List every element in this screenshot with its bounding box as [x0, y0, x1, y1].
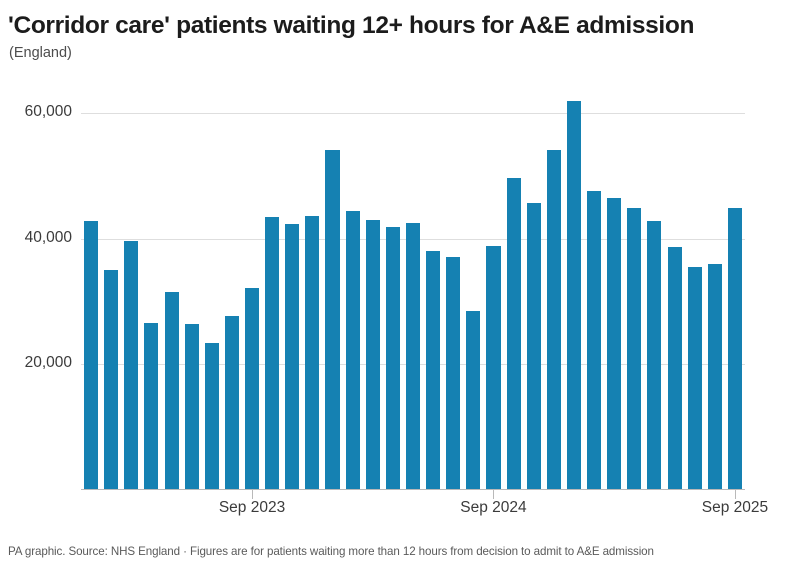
bar — [144, 323, 158, 489]
x-axis-tick-mark — [735, 490, 736, 499]
y-axis-tick-label: 40,000 — [6, 230, 72, 246]
bar — [668, 247, 682, 490]
bar-series — [81, 104, 745, 490]
bar — [486, 246, 500, 489]
bar — [426, 251, 440, 489]
bar — [406, 223, 420, 489]
bar — [647, 221, 661, 490]
x-axis-tick-label: Sep 2024 — [460, 500, 526, 516]
bar — [104, 270, 118, 490]
plot-area: 20,00040,00060,000 Sep 2023Sep 2024Sep 2… — [0, 0, 794, 575]
bar — [466, 311, 480, 489]
source-note: PA graphic. Source: NHS England · Figure… — [8, 545, 654, 558]
bar — [688, 267, 702, 490]
bar — [305, 216, 319, 490]
bar — [325, 150, 339, 489]
bar — [225, 316, 239, 490]
bar — [547, 150, 561, 489]
x-axis-tick-mark — [493, 490, 494, 499]
bar — [265, 217, 279, 489]
y-axis-tick-label: 60,000 — [6, 104, 72, 120]
bar — [205, 343, 219, 490]
bar — [386, 227, 400, 489]
y-axis-tick-label: 20,000 — [6, 355, 72, 371]
bar — [165, 292, 179, 489]
bar — [567, 101, 581, 489]
bar — [185, 324, 199, 490]
bar — [587, 191, 601, 489]
bar — [507, 178, 521, 489]
bar — [446, 257, 460, 489]
bar — [527, 203, 541, 490]
bar — [285, 224, 299, 489]
bar — [708, 264, 722, 490]
x-axis-line — [81, 489, 745, 490]
x-axis-tick-label: Sep 2023 — [219, 500, 285, 516]
bar — [245, 288, 259, 489]
bar — [607, 198, 621, 489]
x-axis-tick-mark — [252, 490, 253, 499]
bar — [346, 211, 360, 490]
bar — [84, 221, 98, 490]
chart-figure: 'Corridor care' patients waiting 12+ hou… — [0, 0, 794, 575]
x-axis-tick-label: Sep 2025 — [702, 500, 768, 516]
bar — [627, 208, 641, 490]
bar — [366, 220, 380, 489]
bar — [124, 241, 138, 489]
bar — [728, 208, 742, 490]
